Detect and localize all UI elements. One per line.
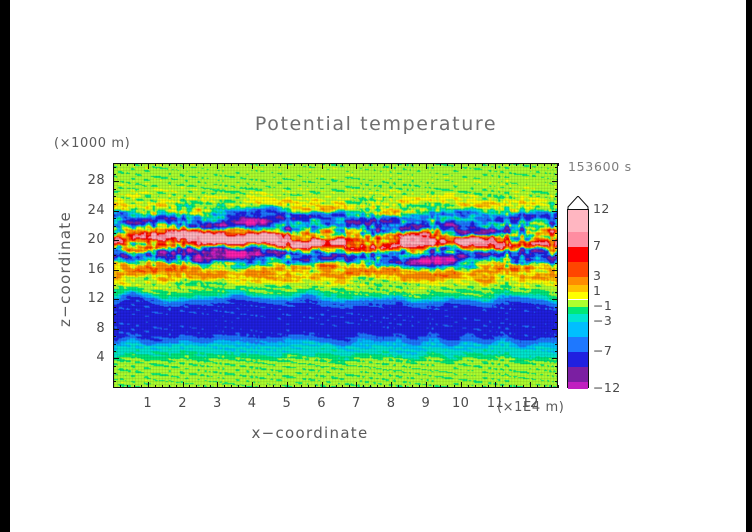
axis-tick: [461, 382, 462, 388]
x-tick-label: 7: [341, 396, 371, 411]
axis-tick: [280, 163, 281, 166]
axis-tick: [342, 163, 343, 166]
axis-tick: [516, 163, 517, 166]
axis-tick: [419, 163, 420, 166]
axis-tick: [113, 299, 119, 300]
axis-tick: [169, 385, 170, 388]
axis-tick: [502, 163, 503, 166]
axis-tick: [454, 163, 455, 166]
axis-tick: [113, 322, 116, 323]
axis-tick: [287, 163, 288, 169]
axis-tick: [555, 344, 558, 345]
axis-tick: [259, 163, 260, 166]
axis-tick: [141, 385, 142, 388]
axis-tick: [294, 385, 295, 388]
axis-tick: [384, 385, 385, 388]
axis-tick: [555, 285, 558, 286]
axis-tick: [113, 307, 116, 308]
x-axis-unit-label: (×1E4 m): [497, 400, 564, 415]
colorbar-band: [568, 285, 588, 292]
axis-tick: [482, 385, 483, 388]
axis-tick: [113, 329, 119, 330]
axis-tick: [113, 351, 116, 352]
axis-tick: [468, 163, 469, 166]
axis-tick: [113, 366, 116, 367]
axis-tick: [113, 189, 116, 190]
axis-tick: [162, 385, 163, 388]
axis-tick: [558, 385, 559, 388]
axis-tick: [176, 385, 177, 388]
colorbar-arrow-cap-icon: [567, 196, 589, 210]
axis-tick: [217, 163, 218, 169]
axis-tick: [113, 292, 116, 293]
axis-tick: [169, 163, 170, 166]
axis-tick: [555, 373, 558, 374]
axis-tick: [342, 385, 343, 388]
x-tick-label: 3: [202, 396, 232, 411]
right-letterbox-bar: [746, 0, 752, 532]
x-tick-label: 4: [237, 396, 267, 411]
axis-tick: [224, 163, 225, 166]
axis-tick: [349, 163, 350, 166]
axis-tick: [398, 385, 399, 388]
axis-tick: [509, 163, 510, 166]
axis-tick: [183, 382, 184, 388]
colorbar-tick-label: −1: [593, 298, 612, 313]
axis-tick: [440, 385, 441, 388]
axis-tick: [461, 163, 462, 169]
axis-tick: [203, 163, 204, 166]
axis-tick: [141, 163, 142, 166]
axis-tick: [405, 385, 406, 388]
axis-tick: [231, 385, 232, 388]
colorbar-band: [568, 322, 588, 337]
axis-tick: [113, 314, 116, 315]
axis-tick: [555, 351, 558, 352]
axis-tick: [555, 381, 558, 382]
axis-tick: [259, 385, 260, 388]
axis-tick: [412, 163, 413, 166]
colorbar-band: [568, 307, 588, 314]
axis-tick: [196, 163, 197, 166]
axis-tick: [238, 163, 239, 166]
axis-tick: [552, 211, 558, 212]
axis-tick: [447, 163, 448, 166]
axis-tick: [252, 382, 253, 388]
axis-tick: [113, 344, 116, 345]
axis-tick: [189, 385, 190, 388]
axis-tick: [252, 163, 253, 169]
colorbar-tick-label: −3: [593, 313, 612, 328]
axis-tick: [113, 167, 116, 168]
axis-tick: [134, 163, 135, 166]
axis-tick: [280, 385, 281, 388]
y-tick-label: 16: [75, 262, 105, 277]
axis-tick: [162, 163, 163, 166]
colorbar-bands: [567, 209, 589, 388]
axis-tick: [509, 385, 510, 388]
axis-tick: [370, 163, 371, 166]
axis-tick: [433, 385, 434, 388]
axis-tick: [315, 385, 316, 388]
axis-tick: [113, 204, 116, 205]
colorbar-tick-label: 12: [593, 201, 610, 216]
axis-tick: [454, 385, 455, 388]
axis-tick: [322, 163, 323, 169]
axis-tick: [555, 336, 558, 337]
axis-tick: [113, 255, 116, 256]
axis-tick: [245, 163, 246, 166]
axis-tick: [552, 358, 558, 359]
axis-tick: [488, 385, 489, 388]
z-axis-unit-label: (×1000 m): [54, 136, 130, 151]
axis-tick: [555, 189, 558, 190]
axis-tick: [113, 336, 116, 337]
axis-tick: [329, 163, 330, 166]
axis-tick: [555, 196, 558, 197]
axis-tick: [113, 226, 116, 227]
axis-tick: [555, 174, 558, 175]
axis-tick: [273, 163, 274, 166]
colorbar-band: [568, 277, 588, 284]
axis-tick: [426, 382, 427, 388]
axis-tick: [113, 211, 119, 212]
axis-tick: [530, 163, 531, 169]
y-axis-title: z−coordinate: [56, 199, 74, 339]
axis-tick: [502, 385, 503, 388]
axis-tick: [322, 382, 323, 388]
axis-tick: [544, 163, 545, 166]
colorbar-band: [568, 292, 588, 299]
axis-tick: [113, 181, 119, 182]
axis-tick: [555, 314, 558, 315]
axis-tick: [391, 382, 392, 388]
x-tick-label: 8: [376, 396, 406, 411]
axis-tick: [155, 163, 156, 166]
axis-tick: [523, 163, 524, 166]
axis-tick: [555, 233, 558, 234]
axis-tick: [555, 263, 558, 264]
x-tick-label: 9: [411, 396, 441, 411]
axis-tick: [377, 163, 378, 166]
axis-tick: [495, 163, 496, 169]
figure-canvas: Potential temperature (×1000 m) 153600 s…: [0, 0, 752, 532]
axis-tick: [113, 270, 119, 271]
colorbar-tick-label: 1: [593, 283, 601, 298]
axis-tick: [176, 163, 177, 166]
axis-tick: [113, 285, 116, 286]
axis-tick: [127, 385, 128, 388]
colorbar-tick-label: −7: [593, 343, 612, 358]
axis-tick: [113, 174, 116, 175]
axis-tick: [440, 163, 441, 166]
axis-tick: [555, 167, 558, 168]
axis-tick: [183, 163, 184, 169]
colorbar-band: [568, 247, 588, 262]
axis-tick: [551, 163, 552, 166]
axis-tick: [363, 163, 364, 166]
axis-tick: [294, 163, 295, 166]
axis-tick: [412, 385, 413, 388]
axis-tick: [315, 163, 316, 166]
axis-tick: [356, 163, 357, 169]
axis-tick: [113, 263, 116, 264]
y-tick-label: 28: [75, 173, 105, 188]
axis-tick: [336, 385, 337, 388]
axis-tick: [384, 163, 385, 166]
colorbar-band: [568, 232, 588, 247]
axis-tick: [468, 385, 469, 388]
colorbar-band: [568, 382, 588, 389]
axis-tick: [552, 270, 558, 271]
axis-tick: [523, 385, 524, 388]
contour-plot-area[interactable]: [113, 163, 558, 388]
axis-tick: [301, 163, 302, 166]
axis-tick: [120, 385, 121, 388]
axis-tick: [113, 381, 116, 382]
axis-tick: [552, 329, 558, 330]
axis-tick: [555, 204, 558, 205]
axis-tick: [231, 163, 232, 166]
colorbar-tick-label: −12: [593, 380, 621, 395]
axis-tick: [555, 292, 558, 293]
x-tick-label: 10: [446, 396, 476, 411]
axis-tick: [113, 196, 116, 197]
colorbar-band: [568, 314, 588, 321]
axis-tick: [224, 385, 225, 388]
axis-tick: [127, 163, 128, 166]
axis-tick: [516, 385, 517, 388]
axis-tick: [336, 163, 337, 166]
colorbar-band: [568, 367, 588, 382]
x-tick-label: 2: [168, 396, 198, 411]
axis-tick: [391, 163, 392, 169]
colorbar-band: [568, 262, 588, 277]
axis-tick: [475, 163, 476, 166]
axis-tick: [113, 248, 116, 249]
axis-tick: [210, 163, 211, 166]
axis-tick: [217, 382, 218, 388]
axis-tick: [245, 385, 246, 388]
axis-tick: [552, 299, 558, 300]
left-letterbox-bar: [0, 0, 10, 532]
axis-tick: [555, 366, 558, 367]
axis-tick: [329, 385, 330, 388]
axis-tick: [113, 277, 116, 278]
colorbar-tick-label: 7: [593, 238, 601, 253]
axis-tick: [555, 322, 558, 323]
axis-tick: [370, 385, 371, 388]
colorbar-band: [568, 300, 588, 307]
temperature-field: [114, 164, 557, 387]
axis-tick: [552, 181, 558, 182]
axis-tick: [555, 248, 558, 249]
axis-tick: [301, 385, 302, 388]
x-tick-label: 1: [133, 396, 163, 411]
page-title: Potential temperature: [0, 113, 752, 135]
axis-tick: [203, 385, 204, 388]
axis-tick: [113, 240, 119, 241]
colorbar-band: [568, 352, 588, 367]
axis-tick: [398, 163, 399, 166]
axis-tick: [134, 385, 135, 388]
axis-tick: [210, 385, 211, 388]
axis-tick: [405, 163, 406, 166]
axis-tick: [287, 382, 288, 388]
axis-tick: [537, 163, 538, 166]
axis-tick: [447, 385, 448, 388]
y-tick-label: 24: [75, 203, 105, 218]
axis-tick: [113, 218, 116, 219]
axis-tick: [552, 240, 558, 241]
y-tick-label: 8: [75, 321, 105, 336]
colorbar-band: [568, 337, 588, 352]
y-tick-label: 4: [75, 350, 105, 365]
y-tick-label: 20: [75, 232, 105, 247]
axis-tick: [356, 382, 357, 388]
x-tick-label: 6: [307, 396, 337, 411]
axis-tick: [551, 385, 552, 388]
axis-tick: [555, 226, 558, 227]
axis-tick: [196, 385, 197, 388]
axis-tick: [377, 385, 378, 388]
colorbar[interactable]: 12731−1−3−7−12: [567, 196, 589, 388]
axis-tick: [113, 373, 116, 374]
axis-tick: [273, 385, 274, 388]
colorbar-band: [568, 210, 588, 232]
axis-tick: [555, 307, 558, 308]
axis-tick: [363, 385, 364, 388]
x-tick-label: 5: [272, 396, 302, 411]
axis-tick: [148, 163, 149, 169]
axis-tick: [555, 255, 558, 256]
axis-tick: [537, 385, 538, 388]
y-tick-label: 12: [75, 291, 105, 306]
axis-tick: [266, 385, 267, 388]
axis-tick: [238, 385, 239, 388]
axis-tick: [530, 382, 531, 388]
axis-tick: [475, 385, 476, 388]
axis-tick: [482, 163, 483, 166]
axis-tick: [555, 277, 558, 278]
axis-tick: [155, 385, 156, 388]
axis-tick: [488, 163, 489, 166]
axis-tick: [544, 385, 545, 388]
axis-tick: [113, 358, 119, 359]
axis-tick: [558, 163, 559, 166]
axis-tick: [266, 163, 267, 166]
axis-tick: [419, 385, 420, 388]
axis-tick: [189, 163, 190, 166]
axis-tick: [433, 163, 434, 166]
axis-tick: [495, 382, 496, 388]
colorbar-tick-label: 3: [593, 268, 601, 283]
axis-tick: [555, 218, 558, 219]
axis-tick: [349, 385, 350, 388]
axis-tick: [113, 233, 116, 234]
axis-tick: [120, 163, 121, 166]
axis-tick: [308, 385, 309, 388]
axis-tick: [148, 382, 149, 388]
x-axis-title: x−coordinate: [0, 424, 620, 442]
axis-tick: [426, 163, 427, 169]
axis-tick: [308, 163, 309, 166]
timestamp-label: 153600 s: [568, 159, 632, 174]
